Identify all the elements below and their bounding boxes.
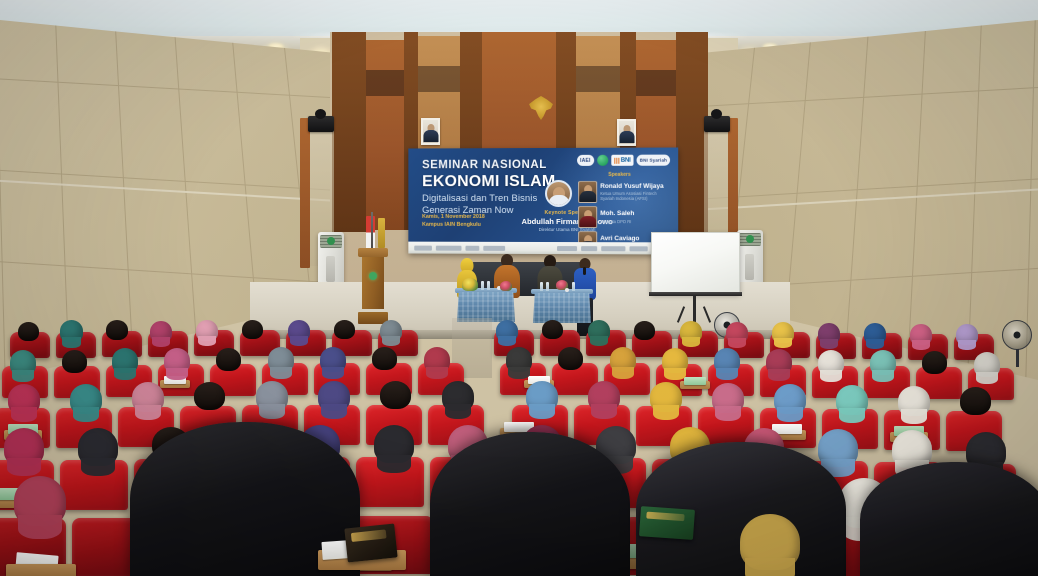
bni-bars-icon	[614, 157, 620, 163]
attendee-hijab	[956, 324, 978, 345]
portrait-wakil-presiden	[617, 119, 636, 146]
attendee-head	[216, 348, 241, 371]
attendee-hijab	[112, 348, 138, 373]
audience-area	[0, 318, 1038, 576]
banner-venue: Kampus IAIN Bengkulu	[422, 221, 485, 229]
attendee-head	[242, 320, 263, 339]
speaker-row: Moh. Saleh Anggota DPD RI	[578, 206, 671, 228]
attendee-head	[960, 387, 991, 415]
seminar-banner: IAEI BNI BNI Syariah SEMINAR NASIONAL EK…	[408, 147, 678, 254]
attendee-head	[372, 347, 397, 370]
attendee-head	[18, 322, 39, 341]
attendee-hijab	[320, 347, 346, 372]
banner-logo-row: IAEI BNI BNI Syariah	[577, 155, 670, 166]
speakers-label: Speakers	[608, 172, 671, 178]
attendee-head	[334, 320, 355, 339]
ac-badge-icon	[746, 235, 754, 243]
podium-body	[362, 257, 384, 309]
speaker-name: Moh. Saleh	[600, 210, 634, 217]
left-door-frame[interactable]	[300, 118, 310, 268]
water-bottle	[487, 281, 490, 290]
stage-recess	[576, 66, 620, 92]
attendee-hijab	[650, 382, 682, 412]
water-bottle	[481, 281, 484, 290]
attendee-hijab	[910, 324, 932, 345]
attendee-hijab	[150, 321, 172, 342]
foreground-attendee-center	[430, 432, 630, 576]
attendee-hijab	[70, 384, 102, 414]
attendee-hijab	[662, 348, 688, 373]
keynote-body	[548, 195, 569, 207]
attendee-hijab	[4, 428, 44, 466]
wall-speaker-icon	[308, 116, 334, 132]
attendee-hijab	[256, 381, 288, 411]
portrait-body	[423, 130, 438, 142]
attendee-hijab	[772, 322, 794, 343]
attendee-hijab	[818, 429, 858, 467]
speaker-avatar	[578, 181, 597, 203]
speaker-row: Ronald Yusuf Wijaya Ketua Umum Asosiasi …	[578, 181, 671, 203]
attendee-hijab	[588, 381, 620, 411]
foreground-attendee-far-right	[860, 462, 1038, 576]
attendee-hijab	[196, 320, 218, 341]
flag-gold	[378, 218, 385, 248]
projector-screen	[651, 232, 740, 294]
attendee-hijab	[712, 383, 744, 413]
attendee-head	[106, 320, 128, 340]
bni-syariah-logo: BNI Syariah	[637, 155, 670, 166]
attendee-hijab	[60, 320, 83, 342]
bni-logo: BNI	[611, 155, 634, 166]
podium-emblem-icon	[369, 272, 377, 280]
attendee-head	[558, 347, 583, 370]
attendee-head	[62, 350, 87, 373]
attendee-head	[380, 381, 411, 409]
ac-badge-icon	[327, 237, 335, 245]
podium-top	[358, 248, 388, 257]
stage-recess	[636, 70, 676, 96]
attendee-hijab	[898, 386, 930, 416]
attendee-hijab	[774, 384, 806, 414]
green-circle-logo	[597, 155, 608, 166]
attendee-hijab	[318, 381, 350, 411]
attendee-hijab	[974, 352, 1000, 377]
attendee-hijab	[892, 430, 932, 468]
banner-date: Kamis, 1 November 2018	[422, 213, 485, 221]
speaker-role: Anggota DPD RI	[600, 219, 634, 224]
microphone-icon	[583, 267, 586, 275]
seat-tablet-arm	[6, 564, 76, 576]
auditorium-photograph: IAEI BNI BNI Syariah SEMINAR NASIONAL EK…	[0, 0, 1038, 576]
attendee-hijab	[726, 322, 748, 343]
attendee-hijab	[78, 428, 118, 466]
flower-arrangement	[462, 278, 478, 291]
attendee-hijab	[836, 385, 868, 415]
wall-speaker-icon	[704, 116, 730, 132]
water-bottle	[572, 282, 575, 291]
stage-recess	[418, 66, 460, 92]
attendee-hijab	[442, 381, 474, 411]
stage-wood-panel	[332, 32, 366, 232]
banner-date-venue: Kamis, 1 November 2018 Kampus IAIN Bengk…	[422, 213, 485, 229]
attendee-hijab	[714, 348, 740, 373]
portrait-body	[619, 131, 634, 143]
attendee-head	[634, 321, 655, 340]
book-on-table	[639, 506, 695, 540]
ac-vent	[745, 254, 754, 280]
attendee-hijab	[14, 476, 66, 526]
keynote-speaker-photo	[545, 180, 572, 207]
banner-sponsor-strip	[408, 242, 678, 255]
speaker-avatar	[578, 206, 597, 228]
ac-vent	[326, 256, 335, 282]
podium-lectern	[358, 248, 388, 324]
attendee-hijab	[680, 321, 702, 342]
attendee-hijab	[818, 350, 844, 375]
attendee-hijab	[424, 347, 450, 372]
attendee-hijab	[8, 384, 40, 414]
speaker-role: Ketua Umum Asosiasi Fintech Syariah Indo…	[600, 191, 671, 202]
attendee-hijab	[132, 382, 164, 412]
attendee-hijab	[164, 348, 190, 373]
attendee-hijab	[496, 320, 518, 341]
attendee-head	[542, 320, 563, 339]
banner-title-line2: EKONOMI ISLAM	[422, 173, 555, 191]
attendee-hijab	[380, 320, 402, 341]
attendee-hijab	[506, 347, 532, 372]
iaei-logo: IAEI	[577, 155, 594, 166]
banner-subtitle-line1: Digitalisasi dan Tren Bisnis	[422, 193, 537, 204]
attendee-hijab	[870, 350, 896, 375]
attendee-hijab	[268, 347, 294, 372]
stage-recess	[366, 70, 404, 96]
projector-screen-bar	[649, 292, 742, 296]
attendee-hijab	[610, 347, 636, 372]
water-bottle	[546, 282, 549, 291]
attendee-hijab	[374, 425, 414, 463]
book-on-table	[344, 523, 397, 562]
notebook-paper	[684, 377, 706, 385]
speaker-name: Ronald Yusuf Wijaya	[600, 182, 671, 189]
banner-title-line1: SEMINAR NASIONAL	[422, 159, 547, 171]
water-bottle	[540, 282, 543, 291]
attendee-hijab	[864, 323, 886, 344]
portrait-presiden	[421, 118, 440, 145]
attendee-hijab	[766, 349, 792, 374]
attendee-hijab	[526, 381, 558, 411]
attendee-hijab	[288, 320, 310, 341]
attendee-head	[194, 382, 225, 410]
attendee-hijab	[588, 320, 610, 341]
stage-wood-panel	[366, 40, 404, 230]
cup	[565, 288, 569, 292]
attendee-hijab	[818, 323, 840, 344]
attendee-hijab	[740, 514, 800, 570]
flower-arrangement	[500, 281, 512, 291]
attendee-hijab	[10, 350, 36, 375]
attendee-head	[922, 351, 947, 374]
